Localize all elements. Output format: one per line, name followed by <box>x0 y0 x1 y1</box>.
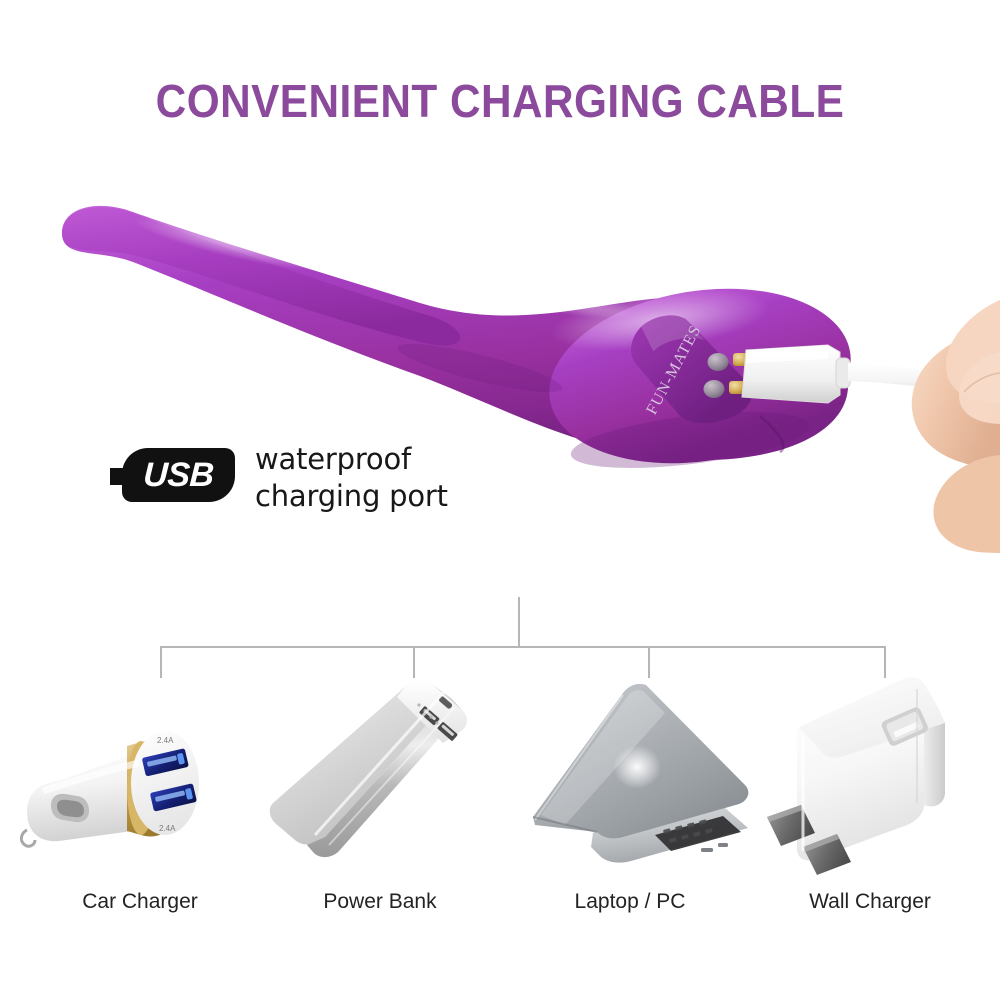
magnetic-connector <box>742 345 850 403</box>
device-wall-charger: Wall Charger <box>745 665 995 895</box>
device-laptop-pc: Laptop / PC <box>505 665 755 895</box>
wall-charger-icon <box>745 665 995 880</box>
hand <box>912 300 1000 553</box>
usb-cable <box>848 363 1000 397</box>
wall-charger-label: Wall Charger <box>745 890 995 914</box>
bracket-horizontal-line <box>160 646 885 648</box>
device-car-charger: 2.4A 2.4A Car Charger <box>15 665 265 895</box>
usb-caption-line-1: waterproof <box>255 441 448 478</box>
connector-bracket <box>0 590 1000 670</box>
car-charger-label: Car Charger <box>15 890 265 914</box>
laptop-icon <box>505 665 755 880</box>
charging-panel <box>624 298 758 439</box>
brand-text: FUN-MATES <box>643 322 704 417</box>
car-charger-port-rating-bottom: 2.4A <box>159 824 176 833</box>
bracket-stem <box>518 597 520 647</box>
car-charger-icon: 2.4A 2.4A <box>15 665 265 880</box>
car-charger-port-rating-top: 2.4A <box>157 736 174 745</box>
power-bank-icon <box>255 665 505 880</box>
power-bank-label: Power Bank <box>255 890 505 914</box>
usb-caption: waterproof charging port <box>255 441 448 515</box>
usb-feature-block: USB waterproof charging port <box>110 441 530 521</box>
contact-dot-lower <box>704 380 725 398</box>
product-marketing-image: CONVENIENT CHARGING CABLE <box>0 0 1000 1000</box>
charging-pins <box>729 353 749 394</box>
laptop-label: Laptop / PC <box>505 890 755 914</box>
page-title: CONVENIENT CHARGING CABLE <box>40 74 960 128</box>
usb-caption-line-2: charging port <box>255 478 448 515</box>
contact-dot-upper <box>708 353 729 371</box>
usb-icon: USB <box>110 448 235 502</box>
usb-icon-label: USB <box>121 448 237 502</box>
device-power-bank: Power Bank <box>255 665 505 895</box>
compatible-devices-row: 2.4A 2.4A Car Charger <box>0 665 1000 925</box>
